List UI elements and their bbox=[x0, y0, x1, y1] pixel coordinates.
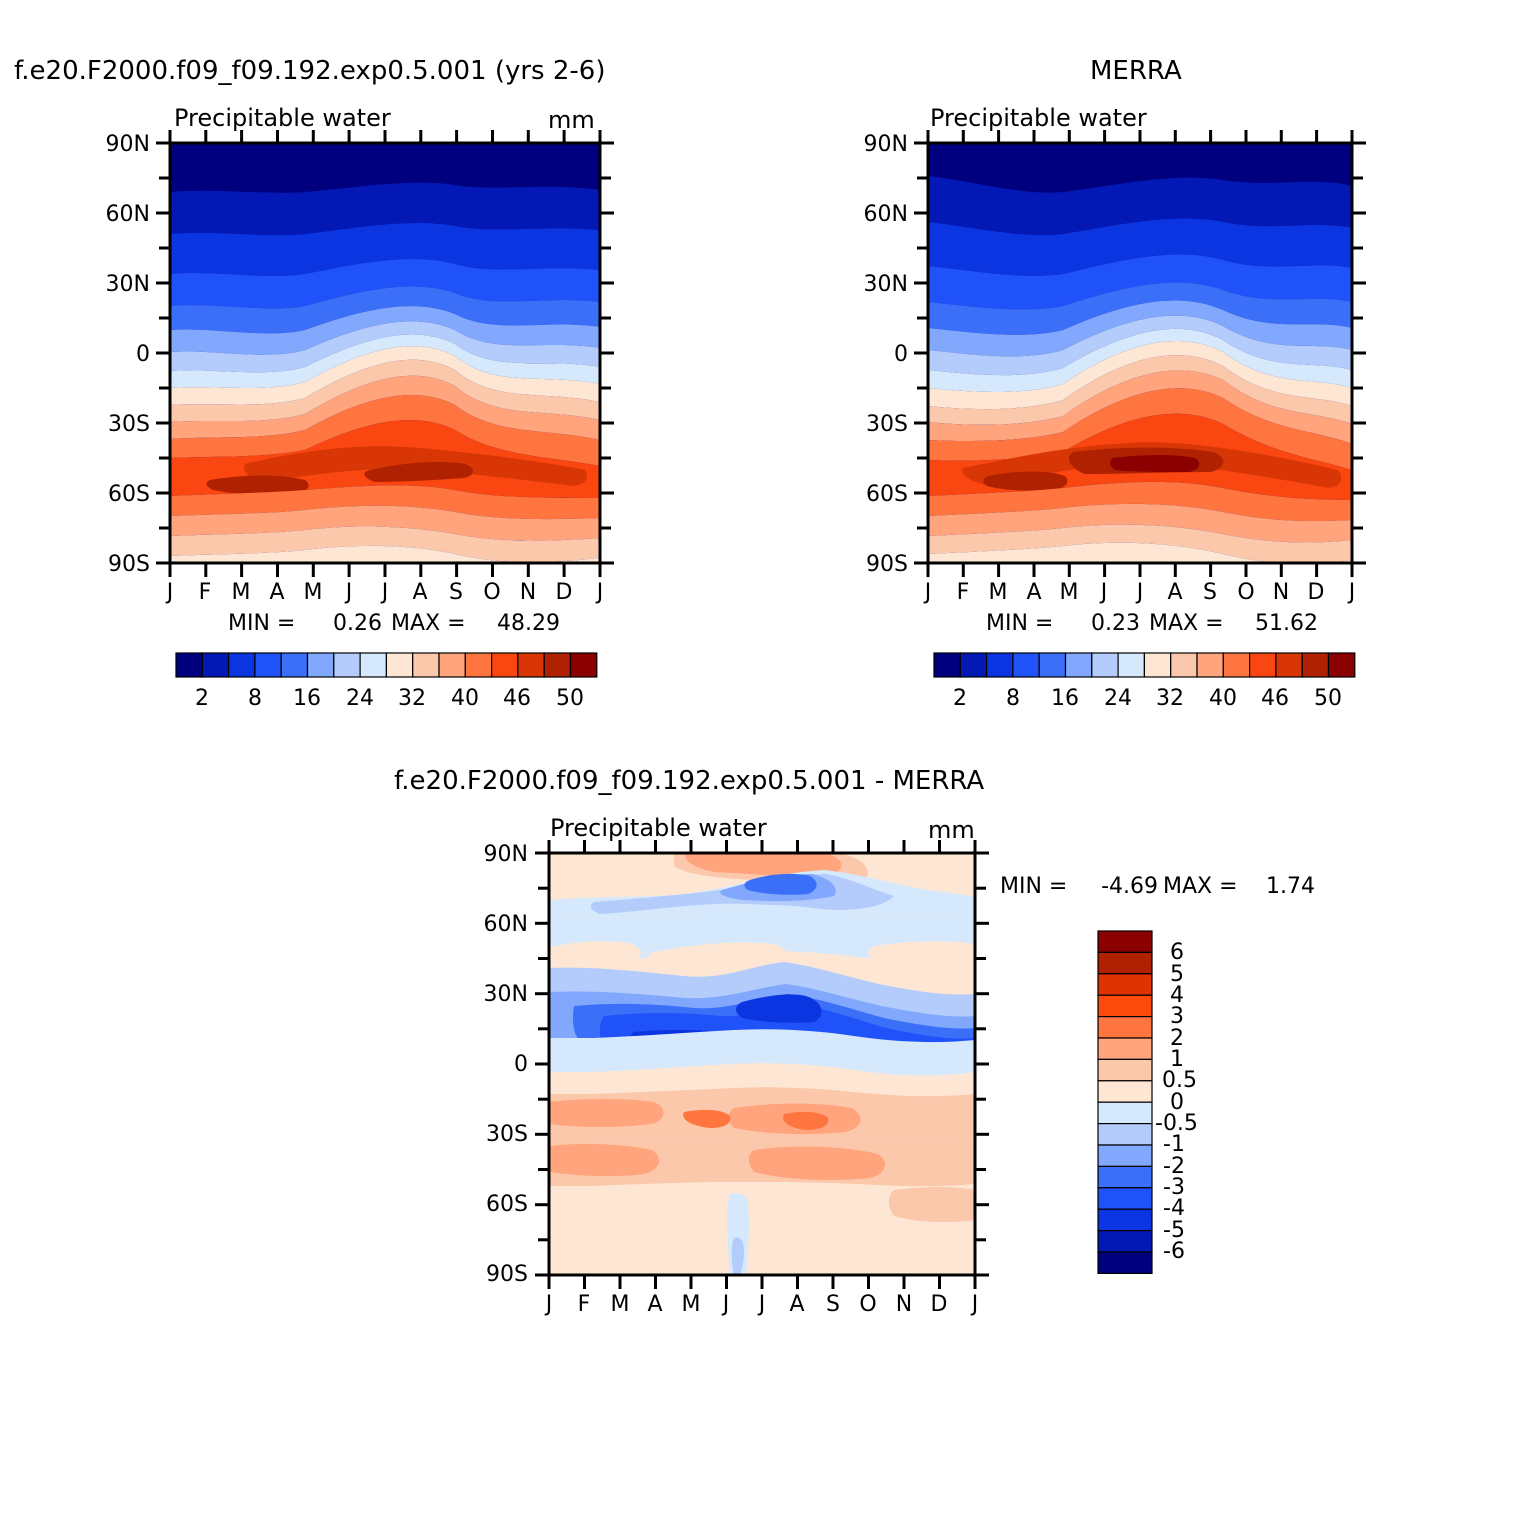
model-contour-plot bbox=[155, 130, 625, 580]
diff-y-tick-60n: 60N bbox=[448, 912, 528, 937]
model-cb-tick-40: 40 bbox=[445, 686, 485, 711]
x-tick-sep: S bbox=[436, 580, 476, 605]
x-tick-jun: J bbox=[329, 580, 369, 605]
model-colorbar[interactable] bbox=[172, 651, 612, 681]
diff-x-tick-sep: S bbox=[813, 1292, 853, 1317]
y-tick-30s: 30S bbox=[70, 412, 150, 437]
x-tick-dec: D bbox=[544, 580, 584, 605]
diff-x-tick-jan: J bbox=[529, 1292, 569, 1317]
x-tick-aug: A bbox=[400, 580, 440, 605]
diff-x-tick-oct: O bbox=[848, 1292, 888, 1317]
y-tick-60s: 60S bbox=[70, 482, 150, 507]
obs-x-tick-feb: F bbox=[943, 580, 983, 605]
diff-x-tick-feb: F bbox=[564, 1292, 604, 1317]
obs-x-tick-nov: N bbox=[1261, 580, 1301, 605]
diff-y-tick-60s: 60S bbox=[448, 1192, 528, 1217]
diff-x-tick-nov: N bbox=[884, 1292, 924, 1317]
obs-y-tick-30s: 30S bbox=[828, 412, 908, 437]
panel-difference-title: f.e20.F2000.f09_f09.192.exp0.5.001 - MER… bbox=[394, 766, 984, 796]
obs-cb-tick-16: 16 bbox=[1045, 686, 1085, 711]
diff-y-tick-30n: 30N bbox=[448, 982, 528, 1007]
obs-contour-bands bbox=[928, 143, 1352, 580]
obs-cb-tick-46: 46 bbox=[1255, 686, 1295, 711]
obs-x-tick-may: M bbox=[1049, 580, 1089, 605]
obs-x-tick-aug: A bbox=[1155, 580, 1195, 605]
diff-x-tick-apr: A bbox=[635, 1292, 675, 1317]
diff-x-tick-mar: M bbox=[600, 1292, 640, 1317]
diff-y-tick-0: 0 bbox=[448, 1052, 528, 1077]
y-tick-30n: 30N bbox=[70, 272, 150, 297]
y-tick-90n: 90N bbox=[70, 132, 150, 157]
model-min-value: 0.26 bbox=[322, 611, 382, 636]
diff-x-tick-jan2: J bbox=[955, 1292, 995, 1317]
model-max-value: 48.29 bbox=[490, 611, 560, 636]
difference-contour-plot bbox=[534, 840, 1004, 1290]
panel-obs-variable-label: Precipitable water bbox=[930, 104, 1147, 132]
model-min-label: MIN = bbox=[228, 611, 295, 636]
model-cb-tick-8: 8 bbox=[235, 686, 275, 711]
x-tick-jan: J bbox=[150, 580, 190, 605]
panel-obs-title: MERRA bbox=[1090, 56, 1182, 86]
obs-x-tick-oct: O bbox=[1226, 580, 1266, 605]
x-tick-mar: M bbox=[221, 580, 261, 605]
diff-y-tick-90s: 90S bbox=[448, 1262, 528, 1287]
obs-colorbar-cells[interactable] bbox=[934, 653, 1355, 677]
obs-cb-tick-24: 24 bbox=[1098, 686, 1138, 711]
model-colorbar-cells[interactable] bbox=[176, 653, 597, 677]
x-tick-may: M bbox=[293, 580, 333, 605]
diff-x-tick-jul: J bbox=[742, 1292, 782, 1317]
panel-difference-variable-label: Precipitable water bbox=[550, 814, 767, 842]
obs-cb-tick-2: 2 bbox=[940, 686, 980, 711]
obs-x-tick-jul: J bbox=[1120, 580, 1160, 605]
obs-x-tick-dec: D bbox=[1296, 580, 1336, 605]
diff-x-tick-dec: D bbox=[919, 1292, 959, 1317]
obs-x-tick-apr: A bbox=[1014, 580, 1054, 605]
obs-contour-plot bbox=[913, 130, 1383, 580]
model-max-label: MAX = bbox=[391, 611, 466, 636]
diff-cb-tick-neg6: -6 bbox=[1163, 1239, 1185, 1264]
diff-max-value: 1.74 bbox=[1255, 874, 1315, 899]
obs-min-value: 0.23 bbox=[1080, 611, 1140, 636]
model-cb-tick-24: 24 bbox=[340, 686, 380, 711]
diff-min-label: MIN = bbox=[1000, 874, 1067, 899]
obs-x-tick-jan2: J bbox=[1332, 580, 1372, 605]
y-tick-90s: 90S bbox=[70, 552, 150, 577]
y-tick-0: 0 bbox=[70, 342, 150, 367]
obs-y-tick-60n: 60N bbox=[828, 202, 908, 227]
difference-colorbar[interactable] bbox=[1095, 928, 1165, 1288]
model-cb-tick-2: 2 bbox=[182, 686, 222, 711]
obs-cb-tick-8: 8 bbox=[993, 686, 1033, 711]
obs-colorbar[interactable] bbox=[930, 651, 1370, 681]
x-tick-oct: O bbox=[472, 580, 512, 605]
x-tick-jul: J bbox=[365, 580, 405, 605]
panel-model-title: f.e20.F2000.f09_f09.192.exp0.5.001 (yrs … bbox=[14, 56, 605, 86]
difference-colorbar-cells[interactable] bbox=[1098, 931, 1152, 1273]
obs-y-tick-90s: 90S bbox=[828, 552, 908, 577]
model-contour-bands bbox=[170, 143, 600, 580]
obs-cb-tick-32: 32 bbox=[1150, 686, 1190, 711]
obs-y-tick-90n: 90N bbox=[828, 132, 908, 157]
obs-x-tick-mar: M bbox=[978, 580, 1018, 605]
diff-min-value: -4.69 bbox=[1088, 874, 1158, 899]
model-cb-tick-16: 16 bbox=[287, 686, 327, 711]
x-tick-jan2: J bbox=[580, 580, 620, 605]
obs-x-tick-sep: S bbox=[1190, 580, 1230, 605]
obs-x-tick-jun: J bbox=[1084, 580, 1124, 605]
model-cb-tick-46: 46 bbox=[497, 686, 537, 711]
obs-y-tick-30n: 30N bbox=[828, 272, 908, 297]
model-cb-tick-50: 50 bbox=[550, 686, 590, 711]
diff-x-tick-aug: A bbox=[777, 1292, 817, 1317]
obs-x-tick-jan: J bbox=[908, 580, 948, 605]
panel-model-variable-label: Precipitable water bbox=[174, 104, 391, 132]
diff-y-tick-90n: 90N bbox=[448, 842, 528, 867]
diff-y-tick-30s: 30S bbox=[448, 1122, 528, 1147]
obs-y-tick-60s: 60S bbox=[828, 482, 908, 507]
obs-y-tick-0: 0 bbox=[828, 342, 908, 367]
obs-cb-tick-50: 50 bbox=[1308, 686, 1348, 711]
obs-cb-tick-40: 40 bbox=[1203, 686, 1243, 711]
diff-x-tick-may: M bbox=[671, 1292, 711, 1317]
y-tick-60n: 60N bbox=[70, 202, 150, 227]
diff-max-label: MAX = bbox=[1163, 874, 1238, 899]
x-tick-nov: N bbox=[508, 580, 548, 605]
diff-x-tick-jun: J bbox=[706, 1292, 746, 1317]
obs-min-label: MIN = bbox=[986, 611, 1053, 636]
x-tick-apr: A bbox=[257, 580, 297, 605]
x-tick-feb: F bbox=[185, 580, 225, 605]
model-cb-tick-32: 32 bbox=[392, 686, 432, 711]
obs-max-label: MAX = bbox=[1149, 611, 1224, 636]
obs-max-value: 51.62 bbox=[1248, 611, 1318, 636]
difference-contour-bands bbox=[549, 853, 975, 1275]
